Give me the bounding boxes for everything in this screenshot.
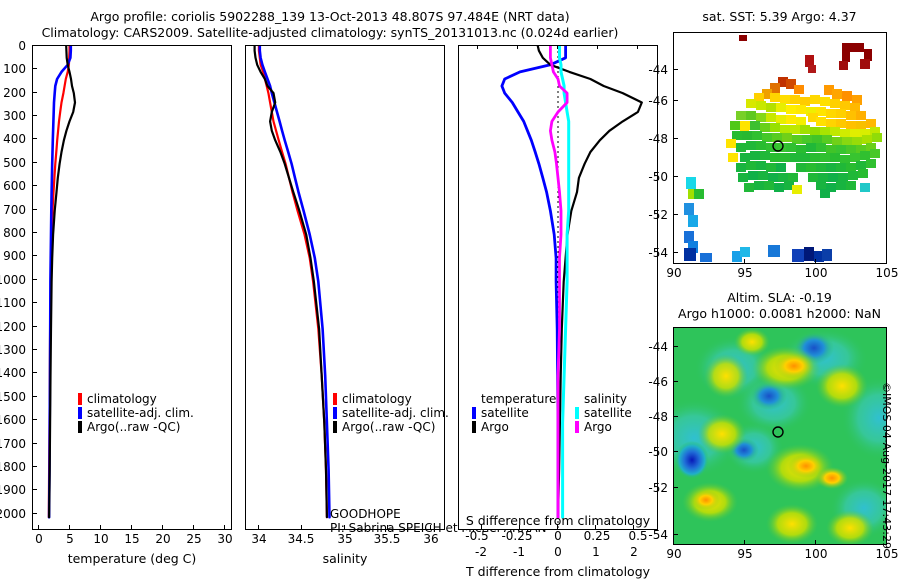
difference-legend-salinity: salinity satellite Argo bbox=[575, 392, 632, 434]
legend-item: satellite-adj. clim. bbox=[78, 406, 194, 420]
legend-label: satellite bbox=[584, 406, 632, 420]
legend-label: satellite-adj. clim. bbox=[342, 406, 449, 420]
sla-heatmap bbox=[674, 328, 886, 544]
difference-curves bbox=[459, 46, 657, 529]
sst-map-axes bbox=[673, 32, 887, 264]
sst-map-title: sat. SST: 5.39 Argo: 4.37 bbox=[672, 9, 887, 24]
difference-profile-axes bbox=[458, 45, 658, 530]
sla-map-axes bbox=[673, 327, 887, 545]
legend-item: satellite-adj. clim. bbox=[333, 406, 449, 420]
imos-watermark: ©IMOS 04-Aug-2017 17:43:29 bbox=[880, 382, 893, 549]
legend-label: Argo(..raw -QC) bbox=[342, 420, 435, 434]
legend-swatch-salinity-argo bbox=[575, 421, 579, 433]
legend-label: Argo(..raw -QC) bbox=[87, 420, 180, 434]
legend-item: climatology bbox=[78, 392, 194, 406]
legend-swatch-temperature-argo bbox=[472, 421, 476, 433]
temperature-curves bbox=[33, 46, 231, 529]
curve-climatology bbox=[259, 46, 327, 517]
salinity-legend: climatology satellite-adj. clim. Argo(..… bbox=[333, 392, 449, 434]
legend-group-title: salinity bbox=[584, 392, 632, 406]
legend-swatch-argo bbox=[333, 421, 337, 433]
figure-title-line2: Climatology: CARS2009. Satellite-adjuste… bbox=[20, 25, 640, 40]
legend-swatch-climatology bbox=[78, 393, 82, 405]
legend-label: satellite-adj. clim. bbox=[87, 406, 194, 420]
legend-label: climatology bbox=[87, 392, 157, 406]
legend-item: Argo(..raw -QC) bbox=[333, 420, 449, 434]
difference-legend-temperature: temperature satellite Argo bbox=[472, 392, 556, 434]
legend-swatch-climatology bbox=[333, 393, 337, 405]
figure-canvas: Argo profile: coriolis 5902288_139 13-Oc… bbox=[0, 0, 900, 580]
legend-item: satellite bbox=[472, 406, 556, 420]
difference-top-x-axis-label: S difference from climatology bbox=[458, 513, 658, 528]
legend-label: satellite bbox=[481, 406, 529, 420]
legend-group-title: temperature bbox=[481, 392, 556, 406]
legend-swatch-satellite-adjusted bbox=[333, 407, 337, 419]
legend-item: Argo(..raw -QC) bbox=[78, 420, 194, 434]
project-name: GOODHOPE bbox=[330, 507, 401, 521]
legend-swatch-argo bbox=[78, 421, 82, 433]
sla-map-title-line1: Altim. SLA: -0.19 bbox=[672, 290, 887, 305]
curve-argo bbox=[255, 46, 327, 517]
salinity-curves bbox=[246, 46, 444, 529]
difference-bottom-x-axis-label: T difference from climatology bbox=[458, 564, 658, 579]
sla-map-title-line2: Argo h1000: 0.0081 h2000: NaN bbox=[662, 306, 897, 321]
legend-item: climatology bbox=[333, 392, 449, 406]
temperature-legend: climatology satellite-adj. clim. Argo(..… bbox=[78, 392, 194, 434]
legend-swatch-satellite-adjusted bbox=[78, 407, 82, 419]
temperature-x-axis-label: temperature (deg C) bbox=[32, 551, 232, 566]
legend-item: Argo bbox=[575, 420, 632, 434]
legend-swatch-temperature-satellite bbox=[472, 407, 476, 419]
legend-swatch-salinity-satellite bbox=[575, 407, 579, 419]
temperature-profile-axes bbox=[32, 45, 232, 530]
legend-label: Argo bbox=[584, 420, 612, 434]
legend-item: satellite bbox=[575, 406, 632, 420]
salinity-x-axis-label: salinity bbox=[245, 551, 445, 566]
sst-heatmap bbox=[674, 33, 886, 263]
legend-label: climatology bbox=[342, 392, 412, 406]
salinity-profile-axes bbox=[245, 45, 445, 530]
legend-label: Argo bbox=[481, 420, 509, 434]
legend-item: Argo bbox=[472, 420, 556, 434]
figure-title-line1: Argo profile: coriolis 5902288_139 13-Oc… bbox=[20, 9, 640, 24]
